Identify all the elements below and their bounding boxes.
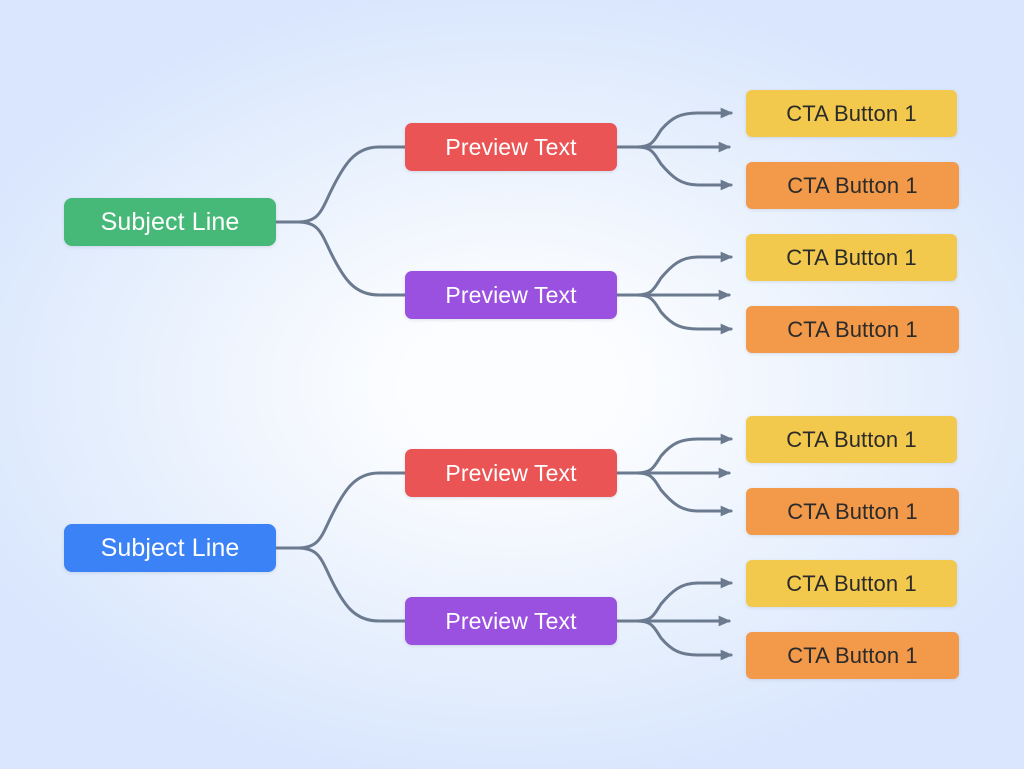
cta-button-node-2b2[interactable]: CTA Button 1 [746,632,959,679]
preview-text-label: Preview Text [445,134,576,161]
connector-g2-red-to-cta-yellow [618,439,731,473]
preview-text-label: Preview Text [445,460,576,487]
cta-button-label: CTA Button 1 [787,173,917,199]
cta-button-label: CTA Button 1 [787,317,917,343]
cta-button-node-1a2[interactable]: CTA Button 1 [746,162,959,209]
connector-g2-red-to-cta-orange [618,473,731,511]
connector-g1-red-to-cta-orange [618,147,731,185]
cta-button-label: CTA Button 1 [787,499,917,525]
cta-button-label: CTA Button 1 [786,245,916,271]
cta-button-label: CTA Button 1 [786,427,916,453]
cta-button-node-2b1[interactable]: CTA Button 1 [746,560,957,607]
preview-text-label: Preview Text [445,282,576,309]
subject-line-label: Subject Line [101,208,240,237]
preview-text-node-2b[interactable]: Preview Text [405,597,617,645]
cta-button-node-2a1[interactable]: CTA Button 1 [746,416,957,463]
cta-button-node-1a1[interactable]: CTA Button 1 [746,90,957,137]
preview-text-node-1b[interactable]: Preview Text [405,271,617,319]
connector-g1-purple-to-cta-orange [618,295,731,329]
connector-g1-red-to-cta-yellow [618,113,731,147]
connector-g2-purple-to-cta-yellow [618,583,731,621]
cta-button-label: CTA Button 1 [787,643,917,669]
subject-line-node-2[interactable]: Subject Line [64,524,276,572]
diagram-canvas: Subject Line Preview Text CTA Button 1 C… [0,0,1024,769]
preview-text-node-1a[interactable]: Preview Text [405,123,617,171]
connector-g1-purple-to-cta-yellow [618,257,731,295]
preview-text-node-2a[interactable]: Preview Text [405,449,617,497]
subject-line-label: Subject Line [101,534,240,563]
subject-line-node-1[interactable]: Subject Line [64,198,276,246]
cta-button-node-1b2[interactable]: CTA Button 1 [746,306,959,353]
preview-text-label: Preview Text [445,608,576,635]
cta-button-label: CTA Button 1 [786,571,916,597]
cta-button-node-2a2[interactable]: CTA Button 1 [746,488,959,535]
cta-button-label: CTA Button 1 [786,101,916,127]
connector-g2-purple-to-cta-orange [618,621,731,655]
cta-button-node-1b1[interactable]: CTA Button 1 [746,234,957,281]
